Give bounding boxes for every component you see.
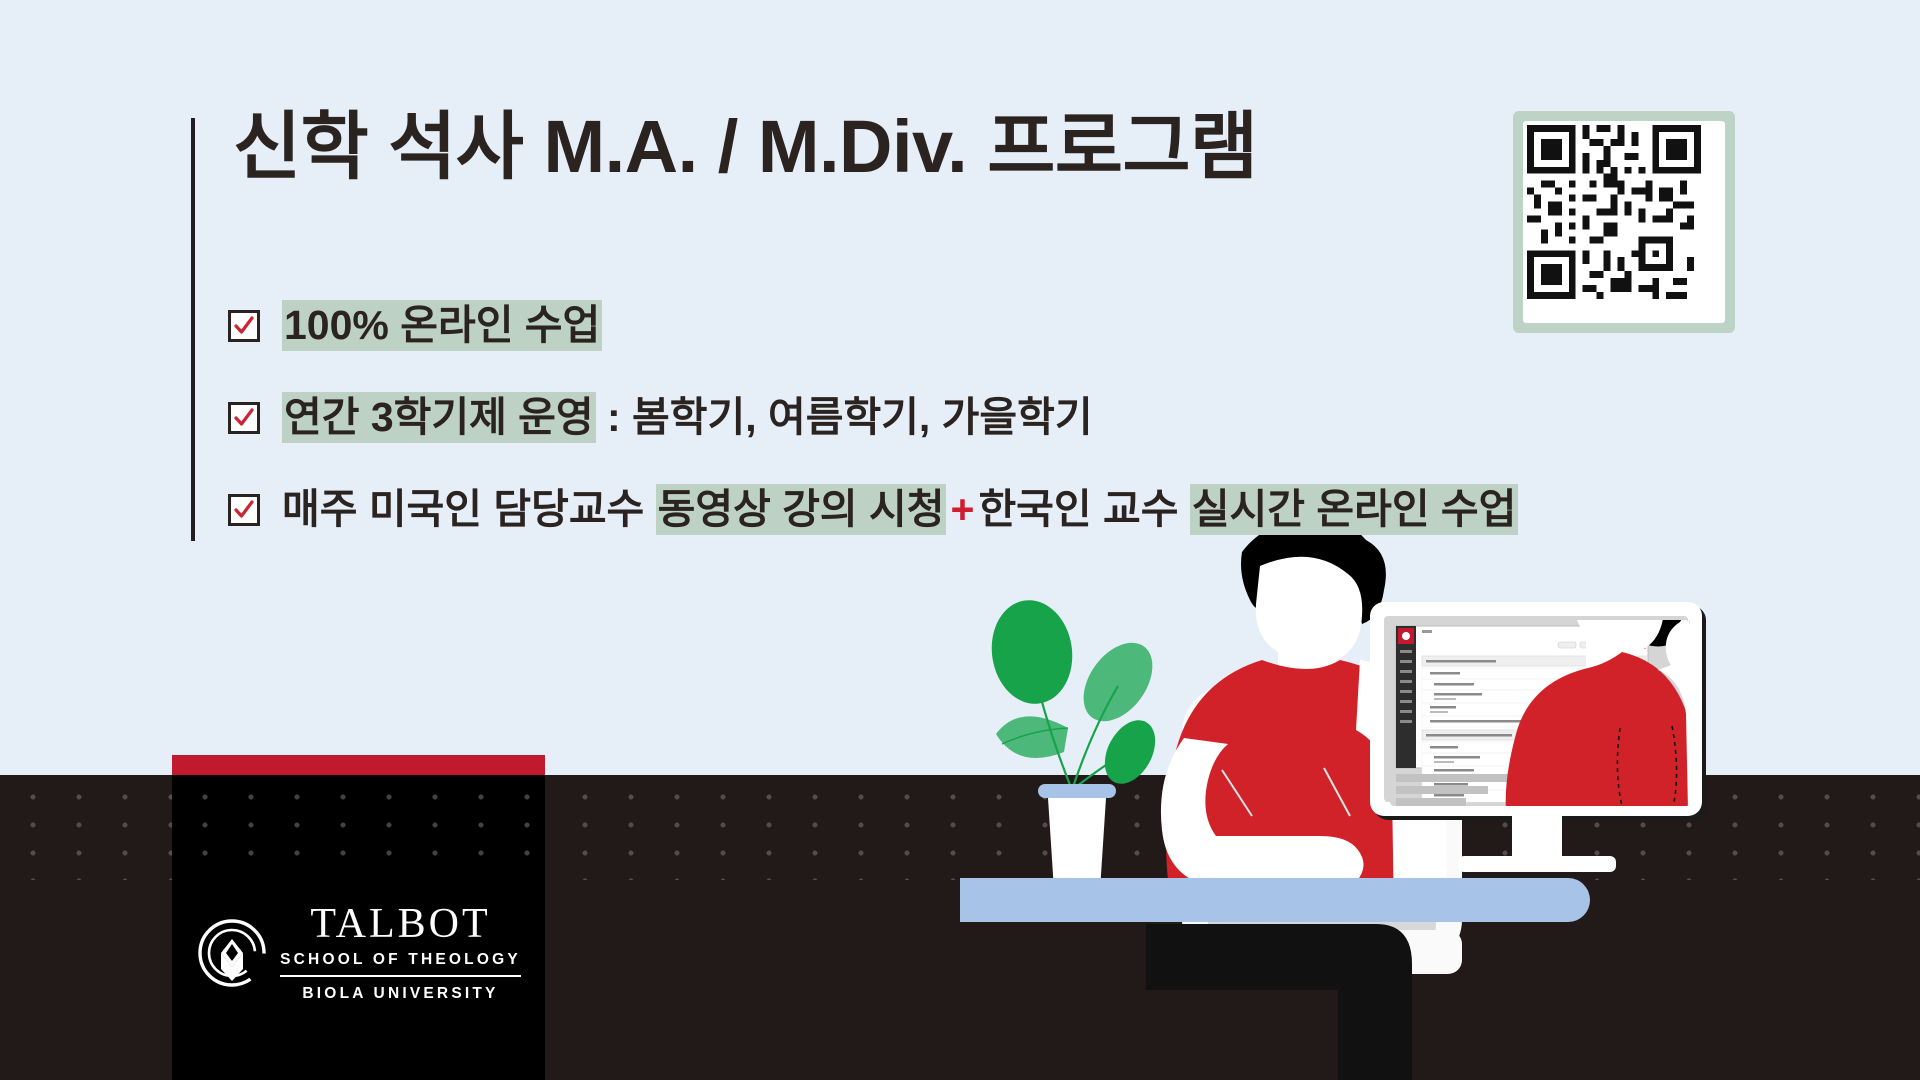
bullet-1-seg-0: 100% 온라인 수업 (282, 300, 602, 351)
bullet-2-seg-0: 연간 3학기제 운영 (282, 392, 596, 443)
feature-list: 100% 온라인 수업 연간 3학기제 운영 : 봄학기, 여름학기, 가을학기… (228, 280, 1788, 556)
list-item-text: 매주 미국인 담당교수 동영상 강의 시청+한국인 교수 실시간 온라인 수업 (282, 484, 1518, 535)
list-item: 100% 온라인 수업 (228, 280, 1788, 372)
checkbox-checked-icon (228, 494, 260, 526)
bullet-3-plus: + (946, 486, 978, 532)
lms-screen (1390, 527, 1734, 810)
poster-canvas: 신학 석사 M.A. / M.Div. 프로그램 (0, 0, 1920, 1080)
list-item: 매주 미국인 담당교수 동영상 강의 시청+한국인 교수 실시간 온라인 수업 (228, 464, 1788, 556)
bullet-2-seg-1: : 봄학기, 여름학기, 가을학기 (596, 394, 1093, 440)
bullet-3-seg-4: 실시간 온라인 수업 (1190, 484, 1519, 535)
talbot-logo-wordmark: TALBOT SCHOOL OF THEOLOGY BIOLA UNIVERSI… (280, 903, 521, 1003)
title-accent-rule (191, 118, 195, 541)
bullet-3-seg-0: 매주 미국인 담당교수 (282, 486, 656, 532)
logo-title: TALBOT (280, 903, 521, 945)
list-item-text: 100% 온라인 수업 (282, 300, 602, 351)
list-item: 연간 3학기제 운영 : 봄학기, 여름학기, 가을학기 (228, 372, 1788, 464)
logo-subtitle: SCHOOL OF THEOLOGY (280, 951, 521, 977)
list-item-text: 연간 3학기제 운영 : 봄학기, 여름학기, 가을학기 (282, 392, 1093, 443)
seated-legs (1146, 924, 1412, 1080)
online-class-illustration (960, 520, 1750, 1080)
logo-panel-accent-bar (172, 755, 545, 775)
checkbox-checked-icon (228, 402, 260, 434)
logo-panel-dot-pattern (172, 775, 545, 875)
bullet-3-seg-3: 한국인 교수 (978, 486, 1189, 532)
potted-plant (985, 595, 1166, 890)
checkbox-checked-icon (228, 310, 260, 342)
logo-institution: BIOLA UNIVERSITY (280, 985, 521, 1003)
qr-code-modules (1527, 125, 1701, 299)
bullet-3-seg-1: 동영상 강의 시청 (656, 484, 947, 535)
page-title: 신학 석사 M.A. / M.Div. 프로그램 (233, 110, 1413, 184)
talbot-logo: TALBOT SCHOOL OF THEOLOGY BIOLA UNIVERSI… (172, 903, 545, 1003)
logo-panel: TALBOT SCHOOL OF THEOLOGY BIOLA UNIVERSI… (172, 775, 545, 1080)
talbot-emblem-icon (196, 917, 268, 989)
